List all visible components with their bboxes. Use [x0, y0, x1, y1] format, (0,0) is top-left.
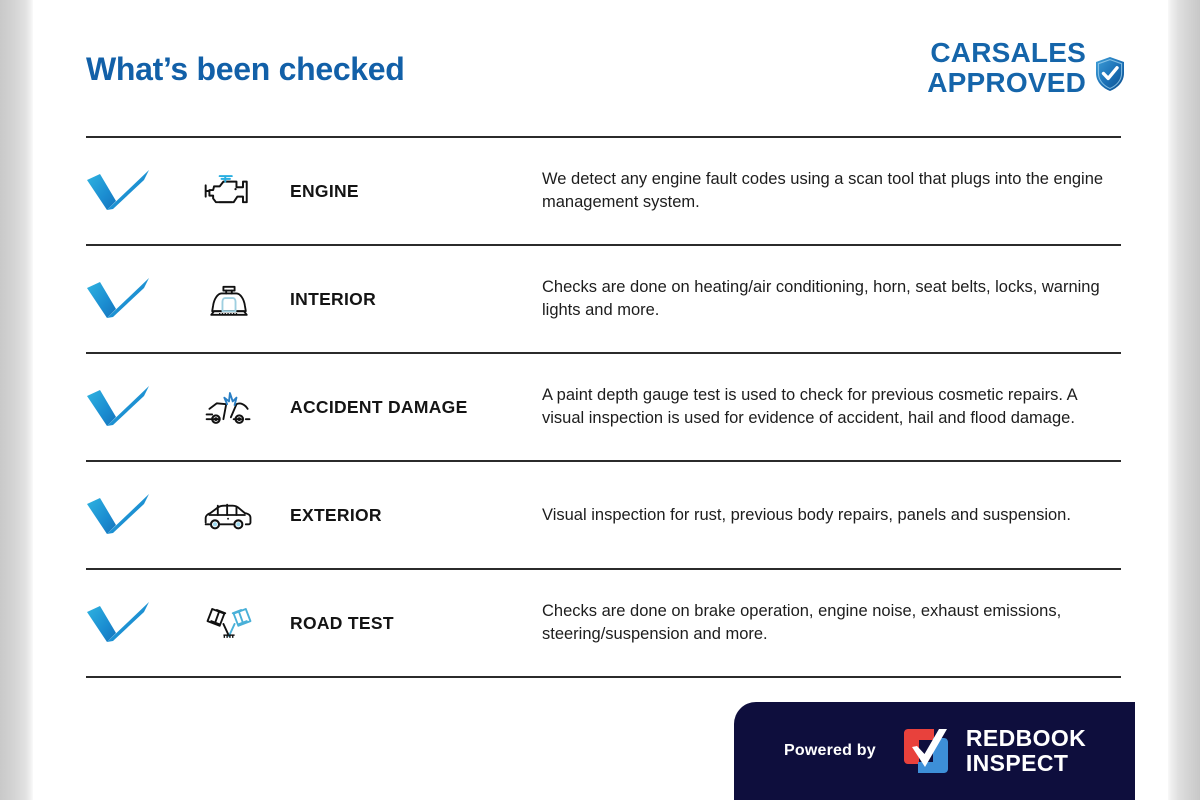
check-cell: [86, 168, 176, 214]
label-cell: ROAD TEST: [282, 613, 532, 634]
redbook-line-1: REDBOOK: [966, 726, 1086, 751]
label-cell: ENGINE: [282, 181, 532, 202]
car-seat-icon: [201, 274, 257, 324]
label-cell: INTERIOR: [282, 289, 532, 310]
redbook-line-2: INSPECT: [966, 751, 1086, 776]
category-description: We detect any engine fault codes using a…: [542, 168, 1113, 214]
blue-checkmark-icon: [86, 384, 150, 430]
checklist-row-road-test[interactable]: ROAD TEST Checks are done on brake opera…: [86, 570, 1121, 676]
icon-cell: [176, 598, 282, 648]
label-cell: ACCIDENT DAMAGE: [282, 397, 532, 418]
category-label: EXTERIOR: [290, 505, 532, 526]
check-cell: [86, 384, 176, 430]
redbook-inspect-logo: REDBOOK INSPECT: [898, 723, 1086, 779]
category-description: Checks are done on brake operation, engi…: [542, 600, 1113, 646]
brand-text: CARSALES APPROVED: [927, 38, 1086, 98]
description-cell: We detect any engine fault codes using a…: [532, 168, 1121, 214]
carsales-approved-badge: CARSALES APPROVED: [927, 38, 1126, 98]
page-root: What’s been checked CARSALES APPROVED: [0, 0, 1200, 800]
page-header: What’s been checked CARSALES APPROVED: [86, 38, 1126, 118]
category-description: Checks are done on heating/air condition…: [542, 276, 1113, 322]
description-cell: Visual inspection for rust, previous bod…: [532, 504, 1121, 527]
brand-line-2: APPROVED: [927, 68, 1086, 98]
blue-checkmark-icon: [86, 168, 150, 214]
icon-cell: [176, 382, 282, 432]
redbook-brand-text: REDBOOK INSPECT: [966, 726, 1086, 776]
checklist: ENGINE We detect any engine fault codes …: [86, 136, 1121, 678]
description-cell: A paint depth gauge test is used to chec…: [532, 384, 1121, 430]
powered-by-footer: Powered by REDBOOK INSPECT: [734, 702, 1135, 800]
shield-check-icon: [1094, 56, 1126, 92]
car-side-profile-icon: [201, 490, 257, 540]
check-cell: [86, 600, 176, 646]
category-description: Visual inspection for rust, previous bod…: [542, 504, 1113, 527]
brand-line-1: CARSALES: [927, 38, 1086, 68]
icon-cell: [176, 274, 282, 324]
check-cell: [86, 492, 176, 538]
engine-block-icon: [201, 166, 257, 216]
checklist-row-engine[interactable]: ENGINE We detect any engine fault codes …: [86, 138, 1121, 244]
checklist-row-accident-damage[interactable]: ACCIDENT DAMAGE A paint depth gauge test…: [86, 354, 1121, 460]
category-label: ENGINE: [290, 181, 532, 202]
checkered-flags-icon: [201, 598, 257, 648]
blue-checkmark-icon: [86, 600, 150, 646]
blue-checkmark-icon: [86, 492, 150, 538]
category-label: INTERIOR: [290, 289, 532, 310]
category-label: ACCIDENT DAMAGE: [290, 397, 532, 418]
checklist-row-interior[interactable]: INTERIOR Checks are done on heating/air …: [86, 246, 1121, 352]
description-cell: Checks are done on heating/air condition…: [532, 276, 1121, 322]
content-card: What’s been checked CARSALES APPROVED: [33, 0, 1168, 800]
blue-checkmark-icon: [86, 276, 150, 322]
redbook-check-logo-icon: [898, 723, 954, 779]
checklist-row-exterior[interactable]: EXTERIOR Visual inspection for rust, pre…: [86, 462, 1121, 568]
description-cell: Checks are done on brake operation, engi…: [532, 600, 1121, 646]
powered-by-label: Powered by: [784, 742, 876, 760]
row-divider: [86, 676, 1121, 678]
category-description: A paint depth gauge test is used to chec…: [542, 384, 1113, 430]
page-title: What’s been checked: [86, 51, 405, 88]
check-cell: [86, 276, 176, 322]
category-label: ROAD TEST: [290, 613, 532, 634]
car-collision-icon: [201, 382, 257, 432]
label-cell: EXTERIOR: [282, 505, 532, 526]
icon-cell: [176, 166, 282, 216]
icon-cell: [176, 490, 282, 540]
